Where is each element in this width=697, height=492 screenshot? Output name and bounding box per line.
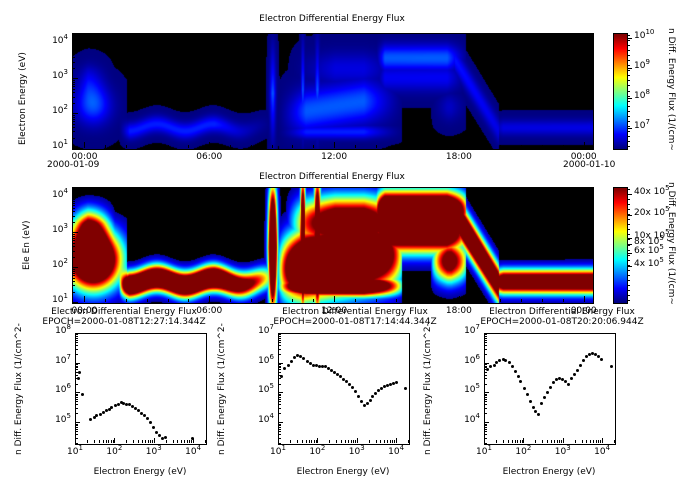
top-y-axis-label: Electron Energy (eV) [18, 52, 28, 145]
data-point [567, 383, 570, 386]
scatter-y-tick-label: 106 [448, 356, 480, 366]
scatter-x-tick-label: 101 [60, 447, 90, 457]
data-point [345, 380, 348, 383]
spec-y-tick-label: 102 [32, 260, 68, 270]
scatter-y-tick-label: 105 [242, 385, 274, 395]
data-point [81, 393, 84, 396]
bottom-panel-1-y-label: n Diff. Energy Flux (1/(cm^2- [14, 323, 24, 455]
bottom-panel-2-plot[interactable] [278, 333, 410, 445]
figure-root: Electron Differential Energy Flux 104103… [0, 0, 697, 492]
colorbar-tick-label: 107 [634, 121, 650, 131]
spec-y-tick-label: 104 [32, 36, 68, 46]
data-point [95, 414, 98, 417]
bottom-panel-1-plot[interactable] [75, 333, 207, 445]
scatter-y-tick-label: 106 [39, 385, 71, 395]
data-point [287, 364, 290, 367]
scatter-x-tick-label: 103 [342, 447, 372, 457]
scatter-x-tick-label: 101 [263, 447, 293, 457]
data-point [78, 371, 81, 374]
top-colorbar [613, 33, 628, 150]
data-point [354, 390, 357, 393]
scatter-y-tick-label: 107 [448, 326, 480, 336]
data-point [523, 387, 526, 390]
scatter-x-tick-label: 103 [139, 447, 169, 457]
data-point [517, 375, 520, 378]
data-point [404, 387, 407, 390]
colorbar-tick-label: 6x 105 [634, 246, 664, 256]
data-point [511, 365, 514, 368]
data-point [546, 391, 549, 394]
top-colorbar-label: n Diff. Energy Flux (1/(cm~ [666, 28, 676, 151]
colorbar-tick-label: 1010 [634, 31, 654, 41]
spec-x-tick-label: 12:00 [314, 152, 354, 162]
scatter-x-tick-label: 104 [381, 447, 411, 457]
data-point [302, 357, 305, 360]
colorbar-tick-label: 4x 105 [634, 259, 664, 269]
bottom-panel-3-y-label: n Diff. Energy Flux (1/(cm^2- [423, 323, 433, 455]
colorbar-tick-label: 20x 105 [634, 208, 670, 218]
spec-y-tick-label: 102 [32, 106, 68, 116]
data-point [600, 358, 603, 361]
data-point [152, 426, 155, 429]
data-point [514, 370, 517, 373]
scatter-y-tick-label: 105 [448, 385, 480, 395]
data-point [582, 359, 585, 362]
data-point [374, 392, 377, 395]
data-point [360, 400, 363, 403]
scatter-x-tick-label: 103 [548, 447, 578, 457]
data-point [526, 393, 529, 396]
scatter-x-tick-label: 104 [178, 447, 208, 457]
top-panel-title: Electron Differential Energy Flux [72, 14, 592, 24]
data-point [552, 381, 555, 384]
scatter-x-tick-label: 102 [508, 447, 538, 457]
scatter-y-tick-label: 107 [242, 326, 274, 336]
data-point [573, 373, 576, 376]
scatter-y-tick-label: 104 [242, 415, 274, 425]
data-point [290, 360, 293, 363]
top-spectrogram-canvas [73, 34, 593, 149]
spec-y-tick-label: 101 [32, 295, 68, 305]
scatter-x-tick-label: 101 [469, 447, 499, 457]
top-colorbar-gradient [614, 34, 627, 149]
scatter-y-tick-label: 105 [39, 415, 71, 425]
scatter-y-tick-label: 107 [39, 356, 71, 366]
bottom-panel-1-x-label: Electron Energy (eV) [75, 467, 205, 477]
scatter-y-tick-label: 104 [448, 415, 480, 425]
bottom-panel-3-title: Electron Differential Energy Flux [452, 307, 672, 317]
data-point [493, 364, 496, 367]
top-spectrogram-plot[interactable] [72, 33, 594, 150]
data-point [508, 361, 511, 364]
bottom-panel-3-x-label: Electron Energy (eV) [484, 467, 614, 477]
spec-y-tick-label: 104 [32, 190, 68, 200]
data-point [363, 404, 366, 407]
bottom-panel-3-epoch: EPOCH=2000-01-08T20:20:06.944Z [452, 317, 672, 327]
spec-y-tick-label: 103 [32, 225, 68, 235]
top-x-date-right: 2000-01-10 [563, 160, 615, 170]
data-point [543, 396, 546, 399]
spec-y-tick-label: 101 [32, 141, 68, 151]
data-point [537, 413, 540, 416]
scatter-y-tick-label: 108 [39, 326, 71, 336]
spec-x-tick-label: 18:00 [439, 152, 479, 162]
data-point [146, 417, 149, 420]
colorbar-tick-label: 108 [634, 91, 650, 101]
scatter-x-tick-label: 102 [302, 447, 332, 457]
data-point [597, 355, 600, 358]
spec-y-tick-label: 103 [32, 71, 68, 81]
scatter-x-tick-label: 104 [587, 447, 617, 457]
data-point [102, 411, 105, 414]
bottom-panel-1-title: Electron Differential Energy Flux [14, 307, 234, 317]
spec-x-tick-label: 06:00 [189, 152, 229, 162]
data-point [532, 406, 535, 409]
middle-spectrogram-plot[interactable] [72, 187, 594, 304]
colorbar-tick-label: 109 [634, 61, 650, 71]
data-point [489, 365, 492, 368]
data-point [529, 400, 532, 403]
middle-panel-title: Electron Differential Energy Flux [72, 172, 592, 182]
data-point [155, 431, 158, 434]
data-point [89, 418, 92, 421]
data-point [149, 421, 152, 424]
middle-y-axis-label: Ele En (eV) [22, 220, 32, 270]
data-point [519, 380, 522, 383]
bottom-panel-2-title: Electron Differential Energy Flux [245, 307, 465, 317]
data-point [110, 406, 113, 409]
middle-colorbar [613, 187, 628, 304]
data-point [357, 395, 360, 398]
data-point [570, 377, 573, 380]
scatter-y-tick-label: 106 [242, 356, 274, 366]
data-point [366, 402, 369, 405]
data-point [369, 399, 372, 402]
bottom-panel-2-x-label: Electron Energy (eV) [278, 467, 408, 477]
data-point [164, 436, 167, 439]
data-point [351, 386, 354, 389]
middle-colorbar-gradient [614, 188, 627, 303]
data-point [576, 369, 579, 372]
data-point [540, 402, 543, 405]
bottom-panel-2-y-label: n Diff. Energy Flux (1/(cm^2- [217, 323, 227, 455]
data-point [610, 365, 613, 368]
middle-spectrogram-canvas [73, 188, 593, 303]
data-point [348, 383, 351, 386]
data-point [549, 386, 552, 389]
top-x-date-left: 2000-01-09 [47, 160, 99, 170]
data-point [395, 381, 398, 384]
scatter-x-tick-label: 102 [99, 447, 129, 457]
data-point [579, 364, 582, 367]
bottom-panel-3-plot[interactable] [484, 333, 616, 445]
middle-colorbar-label: n Diff. Energy Flux (1/(cm~ [666, 182, 676, 305]
data-point [371, 395, 374, 398]
colorbar-tick-label: 40x 105 [634, 187, 670, 197]
data-point [504, 359, 507, 362]
data-point [283, 367, 286, 370]
